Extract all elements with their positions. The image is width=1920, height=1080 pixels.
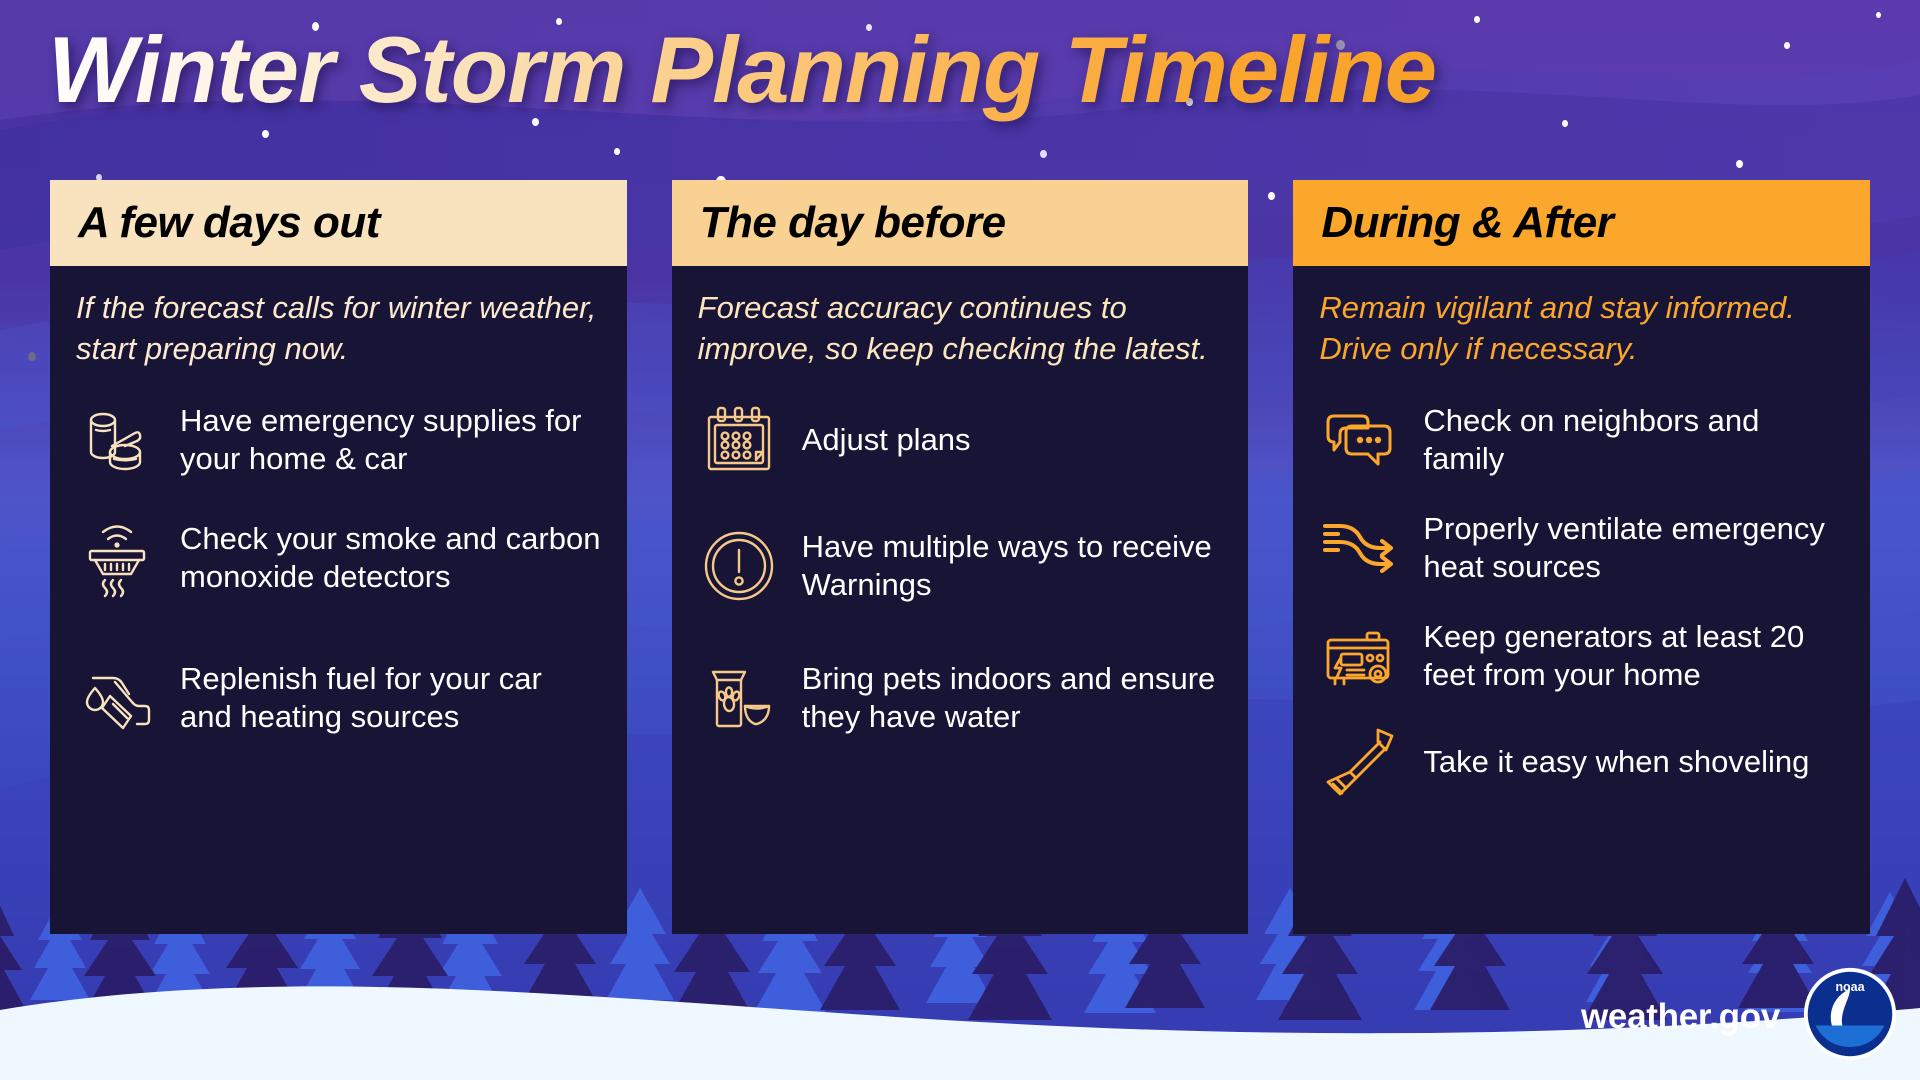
column-body-2: Forecast accuracy continues to improve, … — [672, 266, 1249, 934]
pet-food-icon — [698, 658, 780, 738]
timeline-column-a-few-days-out: A few days out If the forecast calls for… — [50, 180, 627, 934]
list-item: Properly ventilate emergency heat source… — [1319, 508, 1844, 588]
checklist-2: Adjust plans Have multiple ways to recei… — [698, 400, 1223, 738]
list-item: Replenish fuel for your car and heating … — [76, 658, 601, 738]
airflow-arrows-icon — [1319, 508, 1401, 588]
column-intro-1: If the forecast calls for winter weather… — [76, 288, 601, 370]
timeline-column-the-day-before: The day before Forecast accuracy continu… — [672, 180, 1249, 934]
star — [1736, 160, 1743, 168]
list-item-label: Adjust plans — [802, 421, 971, 459]
list-item-label: Keep generators at least 20 feet from yo… — [1423, 618, 1844, 694]
checklist-1: Have emergency supplies for your home & … — [76, 400, 601, 738]
list-item-label: Have emergency supplies for your home & … — [180, 402, 601, 478]
title-container: Winter Storm Planning Timeline — [48, 16, 1436, 124]
column-body-3: Remain vigilant and stay informed. Drive… — [1293, 266, 1870, 934]
list-item: Adjust plans — [698, 400, 1223, 480]
calendar-icon — [698, 400, 780, 480]
snow-shovel-icon — [1319, 722, 1401, 802]
timeline-columns: A few days out If the forecast calls for… — [0, 180, 1920, 934]
star — [262, 130, 269, 138]
column-intro-2: Forecast accuracy continues to improve, … — [698, 288, 1223, 370]
list-item-label: Bring pets indoors and ensure they have … — [802, 660, 1223, 736]
list-item: Take it easy when shoveling — [1319, 722, 1844, 802]
list-item: Keep generators at least 20 feet from yo… — [1319, 616, 1844, 696]
list-item: Check on neighbors and family — [1319, 400, 1844, 480]
star — [1876, 12, 1881, 18]
list-item: Bring pets indoors and ensure they have … — [698, 658, 1223, 738]
timeline-column-during-and-after: During & After Remain vigilant and stay … — [1293, 180, 1870, 934]
column-header-1: A few days out — [50, 180, 627, 266]
generator-icon — [1319, 616, 1401, 696]
noaa-logo: noaa — [1802, 966, 1898, 1062]
column-header-2: The day before — [672, 180, 1249, 266]
star — [614, 148, 620, 155]
page-title: Winter Storm Planning Timeline — [48, 16, 1436, 124]
alert-exclamation-icon — [698, 526, 780, 606]
checklist-3: Check on neighbors and family Pro — [1319, 400, 1844, 802]
column-body-1: If the forecast calls for winter weather… — [50, 266, 627, 934]
list-item-label: Replenish fuel for your car and heating … — [180, 660, 601, 736]
column-header-3: During & After — [1293, 180, 1870, 266]
list-item: Have multiple ways to receive Warnings — [698, 526, 1223, 606]
star — [1474, 16, 1480, 23]
speech-bubbles-icon — [1319, 400, 1401, 480]
fuel-nozzle-icon — [76, 658, 158, 738]
list-item: Have emergency supplies for your home & … — [76, 400, 601, 480]
column-intro-3: Remain vigilant and stay informed. Drive… — [1319, 288, 1844, 370]
list-item-label: Check on neighbors and family — [1423, 402, 1844, 478]
star — [1562, 120, 1568, 127]
smoke-detector-icon — [76, 518, 158, 598]
list-item-label: Check your smoke and carbon monoxide det… — [180, 520, 601, 596]
star — [1040, 150, 1047, 158]
canned-food-icon — [76, 400, 158, 480]
list-item-label: Take it easy when shoveling — [1423, 743, 1809, 781]
weather-gov-label: weather.gov — [1581, 997, 1780, 1037]
noaa-wordmark: noaa — [1835, 980, 1865, 994]
list-item-label: Properly ventilate emergency heat source… — [1423, 510, 1844, 586]
star — [1784, 42, 1790, 49]
list-item-label: Have multiple ways to receive Warnings — [802, 528, 1223, 604]
list-item: Check your smoke and carbon monoxide det… — [76, 518, 601, 598]
